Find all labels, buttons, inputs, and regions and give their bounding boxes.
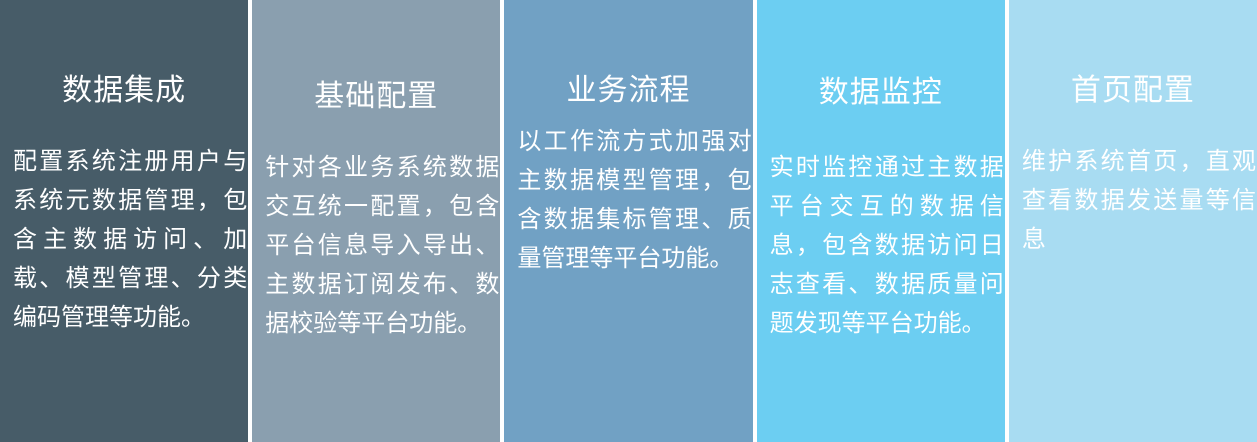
card-title: 首页配置 [1009, 74, 1257, 108]
card-title: 数据集成 [0, 74, 248, 108]
card-title: 数据监控 [757, 76, 1005, 110]
feature-card-row: 数据集成 配置系统注册用户与系统元数据管理，包含主数据访问、加载、模型管理、分类… [0, 0, 1257, 442]
card-title: 基础配置 [252, 80, 500, 114]
card-description: 配置系统注册用户与系统元数据管理，包含主数据访问、加载、模型管理、分类编码管理等… [13, 142, 247, 337]
feature-card-basic-configuration[interactable]: 基础配置 针对各业务系统数据交互统一配置，包含平台信息导入导出、主数据订阅发布、… [252, 0, 500, 442]
card-title: 业务流程 [504, 74, 752, 108]
card-description: 实时监控通过主数据平台交互的数据信息，包含数据访问日志查看、数据质量问题发现等平… [770, 148, 1004, 343]
feature-card-homepage-configuration[interactable]: 首页配置 维护系统首页，直观查看数据发送量等信息 [1009, 0, 1257, 442]
feature-card-data-integration[interactable]: 数据集成 配置系统注册用户与系统元数据管理，包含主数据访问、加载、模型管理、分类… [0, 0, 248, 442]
card-description: 以工作流方式加强对主数据模型管理，包含数据集标管理、质量管理等平台功能。 [517, 122, 751, 278]
card-description: 维护系统首页，直观查看数据发送量等信息 [1022, 142, 1256, 259]
feature-card-data-monitoring[interactable]: 数据监控 实时监控通过主数据平台交互的数据信息，包含数据访问日志查看、数据质量问… [757, 0, 1005, 442]
card-description: 针对各业务系统数据交互统一配置，包含平台信息导入导出、主数据订阅发布、数据校验等… [265, 148, 499, 343]
feature-card-business-process[interactable]: 业务流程 以工作流方式加强对主数据模型管理，包含数据集标管理、质量管理等平台功能… [504, 0, 752, 442]
